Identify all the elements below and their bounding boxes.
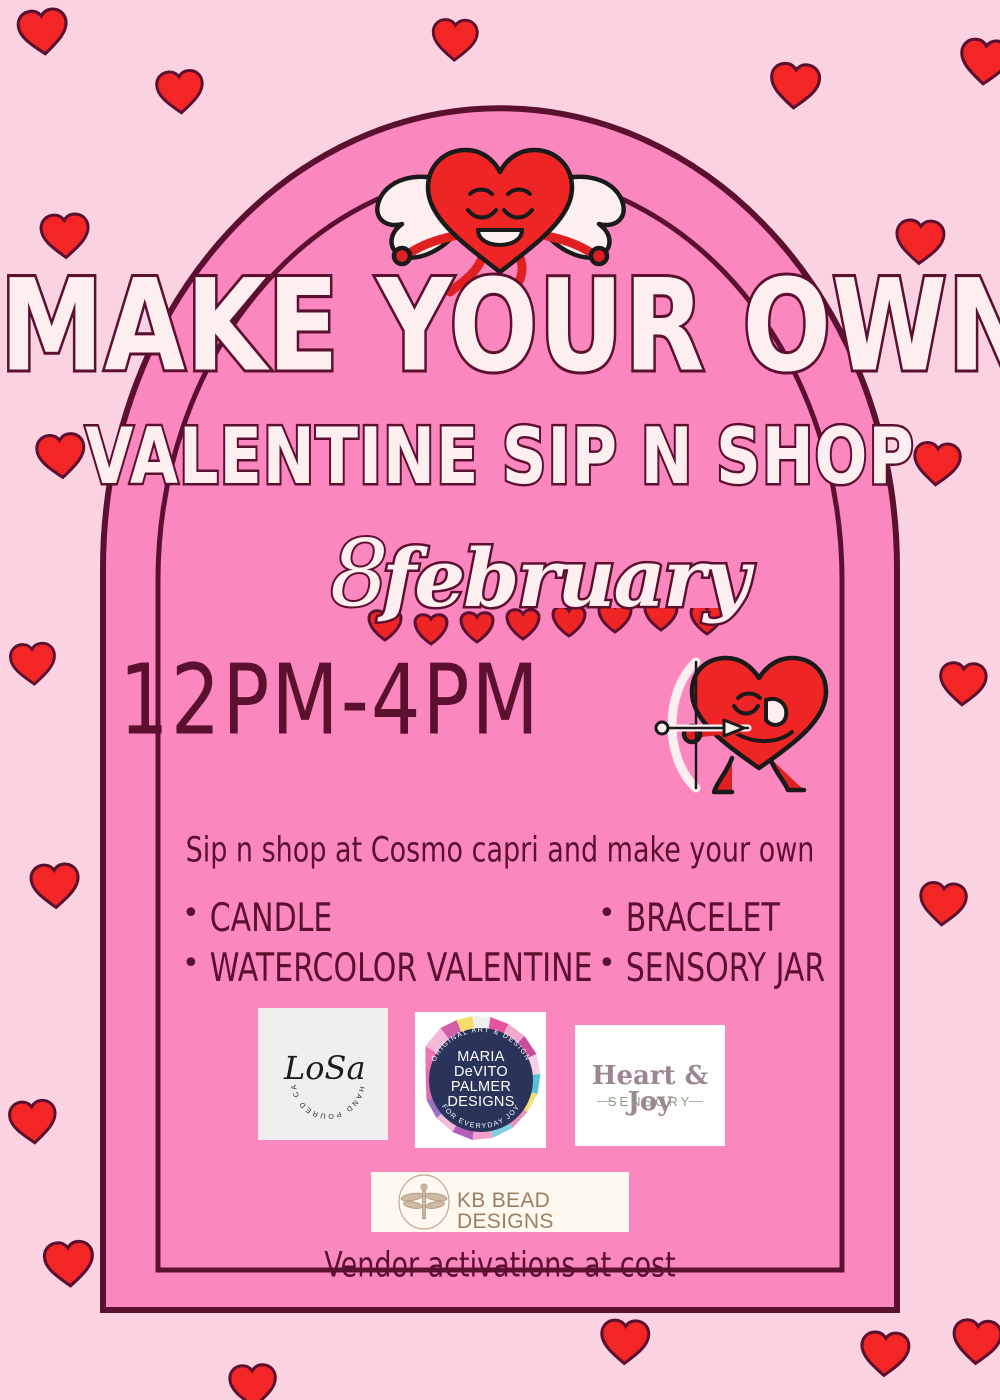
background-hearts-front [0,0,1000,1400]
poster-canvas: MAKE YOUR OWN VALENTINE SIP N SHOP 8 feb… [0,0,1000,1400]
decorative-heart-icon [42,1238,95,1289]
decorative-heart-icon [7,1097,58,1147]
decorative-heart-icon [600,1318,651,1367]
decorative-heart-icon [951,1317,1000,1367]
decorative-heart-icon [228,1362,278,1400]
decorative-heart-icon [859,1329,910,1379]
